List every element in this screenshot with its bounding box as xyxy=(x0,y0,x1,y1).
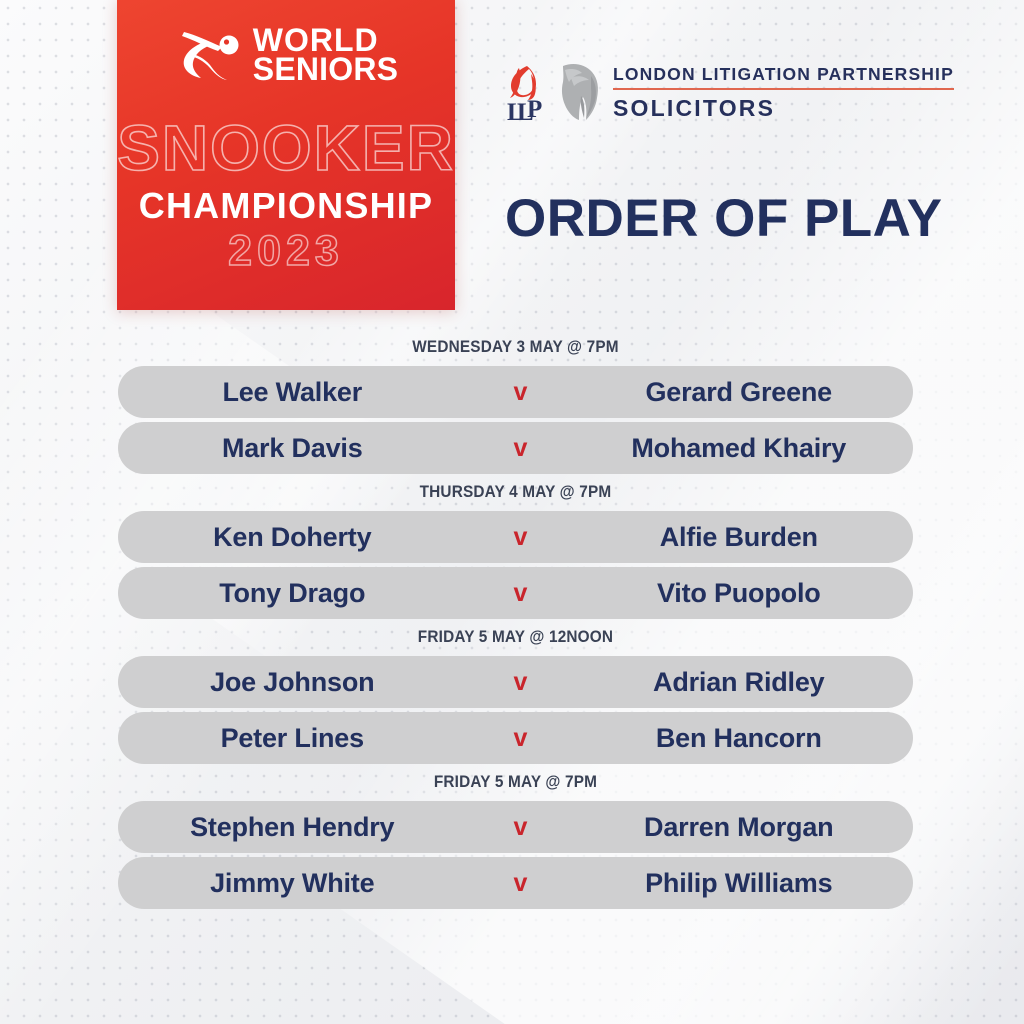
event-logo-panel: WORLD SENIORS SNOOKER CHAMPIONSHIP 2023 xyxy=(117,0,455,310)
brand-word-seniors: SENIORS xyxy=(253,55,398,84)
player-home: Lee Walker xyxy=(118,377,485,408)
session-header: FRIDAY 5 MAY @ 12NOON xyxy=(146,628,885,656)
sponsor-text: LONDON LITIGATION PARTNERSHIP SOLICITORS xyxy=(613,64,954,122)
match-row[interactable]: Mark Davis v Mohamed Khairy xyxy=(118,422,913,474)
sponsor-subtitle: SOLICITORS xyxy=(613,95,954,122)
event-sport-name: SNOOKER xyxy=(117,116,455,180)
order-of-play-poster: WORLD SENIORS SNOOKER CHAMPIONSHIP 2023 … xyxy=(0,0,1024,1024)
spartan-helmet-icon xyxy=(551,62,603,124)
sponsor-name: LONDON LITIGATION PARTNERSHIP xyxy=(613,64,954,90)
page-title: ORDER OF PLAY xyxy=(505,192,942,245)
session-header: FRIDAY 5 MAY @ 7PM xyxy=(146,773,885,801)
versus-separator: v xyxy=(485,434,557,463)
versus-separator: v xyxy=(485,378,557,407)
player-home: Jimmy White xyxy=(118,868,485,899)
versus-separator: v xyxy=(485,523,557,552)
match-row[interactable]: Joe Johnson v Adrian Ridley xyxy=(118,656,913,708)
session-block: FRIDAY 5 MAY @ 7PM Stephen Hendry v Darr… xyxy=(118,773,913,909)
session-header: THURSDAY 4 MAY @ 7PM xyxy=(146,483,885,511)
player-away: Darren Morgan xyxy=(557,812,914,843)
match-row[interactable]: Peter Lines v Ben Hancorn xyxy=(118,712,913,764)
versus-separator: v xyxy=(485,668,557,697)
versus-separator: v xyxy=(485,869,557,898)
event-wordmark: SNOOKER CHAMPIONSHIP 2023 xyxy=(117,116,455,273)
match-row[interactable]: Lee Walker v Gerard Greene xyxy=(118,366,913,418)
match-row[interactable]: Tony Drago v Vito Puopolo xyxy=(118,567,913,619)
player-away: Adrian Ridley xyxy=(557,667,914,698)
player-home: Mark Davis xyxy=(118,433,485,464)
sponsor-marks: L L P xyxy=(505,62,603,124)
world-seniors-lockup: WORLD SENIORS xyxy=(117,26,455,85)
player-home: Ken Doherty xyxy=(118,522,485,553)
session-block: WEDNESDAY 3 MAY @ 7PM Lee Walker v Gerar… xyxy=(118,338,913,474)
player-away: Ben Hancorn xyxy=(557,723,914,754)
session-block: THURSDAY 4 MAY @ 7PM Ken Doherty v Alfie… xyxy=(118,483,913,619)
match-row[interactable]: Stephen Hendry v Darren Morgan xyxy=(118,801,913,853)
event-year: 2023 xyxy=(117,230,455,273)
versus-separator: v xyxy=(485,724,557,753)
player-away: Gerard Greene xyxy=(557,377,914,408)
schedule-list: WEDNESDAY 3 MAY @ 7PM Lee Walker v Gerar… xyxy=(118,338,913,918)
player-away: Alfie Burden xyxy=(557,522,914,553)
match-row[interactable]: Jimmy White v Philip Williams xyxy=(118,857,913,909)
llp-monogram-icon: L L P xyxy=(505,62,547,124)
player-home: Stephen Hendry xyxy=(118,812,485,843)
event-competition-name: CHAMPIONSHIP xyxy=(117,188,455,224)
player-home: Peter Lines xyxy=(118,723,485,754)
player-away: Philip Williams xyxy=(557,868,914,899)
player-away: Mohamed Khairy xyxy=(557,433,914,464)
versus-separator: v xyxy=(485,579,557,608)
match-row[interactable]: Ken Doherty v Alfie Burden xyxy=(118,511,913,563)
versus-separator: v xyxy=(485,813,557,842)
snooker-player-icon xyxy=(174,26,244,84)
player-home: Tony Drago xyxy=(118,578,485,609)
player-away: Vito Puopolo xyxy=(557,578,914,609)
sponsor-lockup: L L P LONDON LITIGATION PARTNERSHIP SOLI… xyxy=(505,62,954,124)
player-home: Joe Johnson xyxy=(118,667,485,698)
svg-text:P: P xyxy=(527,96,542,123)
session-block: FRIDAY 5 MAY @ 12NOON Joe Johnson v Adri… xyxy=(118,628,913,764)
session-header: WEDNESDAY 3 MAY @ 7PM xyxy=(146,338,885,366)
